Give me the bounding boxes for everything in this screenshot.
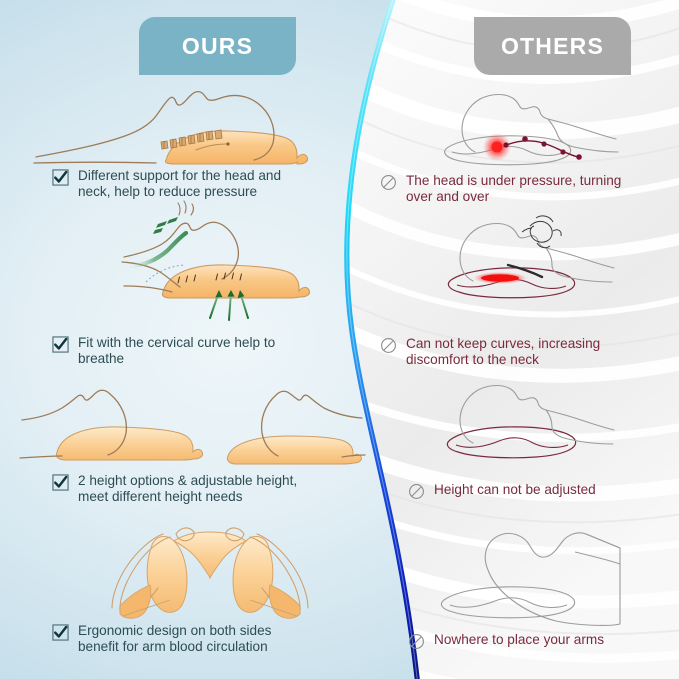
feature-text: 2 height options & adjustable height, me… [78,473,297,504]
header-badge-ours: OURS [139,17,296,75]
ban-circle-slash-icon [408,633,425,650]
illustration-two-heads-two-pillow-heights [20,390,365,464]
checkbox-checked-icon [52,624,69,641]
checkbox-checked-icon [52,336,69,353]
feature-item-pro-4: Ergonomic design on both sides benefit f… [52,623,324,654]
illustration-head-on-contour-pillow-with-spine [34,92,308,164]
illustration-pillow-top-view-arm-cutouts [112,528,308,618]
feature-text: Nowhere to place your arms [434,632,604,648]
feature-text: Can not keep curves, increasing discomfo… [406,336,600,367]
feature-text: Fit with the cervical curve help to brea… [78,335,275,366]
feature-item-pro-3: 2 height options & adjustable height, me… [52,473,342,504]
feature-text: The head is under pressure, turning over… [406,173,621,204]
feature-item-pro-1: Different support for the head and neck,… [52,168,324,199]
ban-circle-slash-icon [380,337,397,354]
illustration-head-breathing-airflow-on-pillow [122,201,310,320]
feature-text: Height can not be adjusted [434,482,596,498]
ban-circle-slash-icon [380,174,397,191]
feature-text: Ergonomic design on both sides benefit f… [78,623,271,654]
header-badge-others: OTHERS [474,17,631,75]
feature-item-pro-2: Fit with the cervical curve help to brea… [52,335,324,366]
feature-item-con-3: Height can not be adjusted [408,482,658,500]
checkbox-checked-icon [52,474,69,491]
feature-item-con-2: Can not keep curves, increasing discomfo… [380,336,652,367]
checkbox-checked-icon [52,169,69,186]
feature-item-con-4: Nowhere to place your arms [408,632,658,650]
ban-circle-slash-icon [408,483,425,500]
feature-text: Different support for the head and neck,… [78,168,281,199]
infographic-canvas: OURS OTHERS Different support for the he… [0,0,679,679]
feature-item-con-1: The head is under pressure, turning over… [380,173,652,204]
